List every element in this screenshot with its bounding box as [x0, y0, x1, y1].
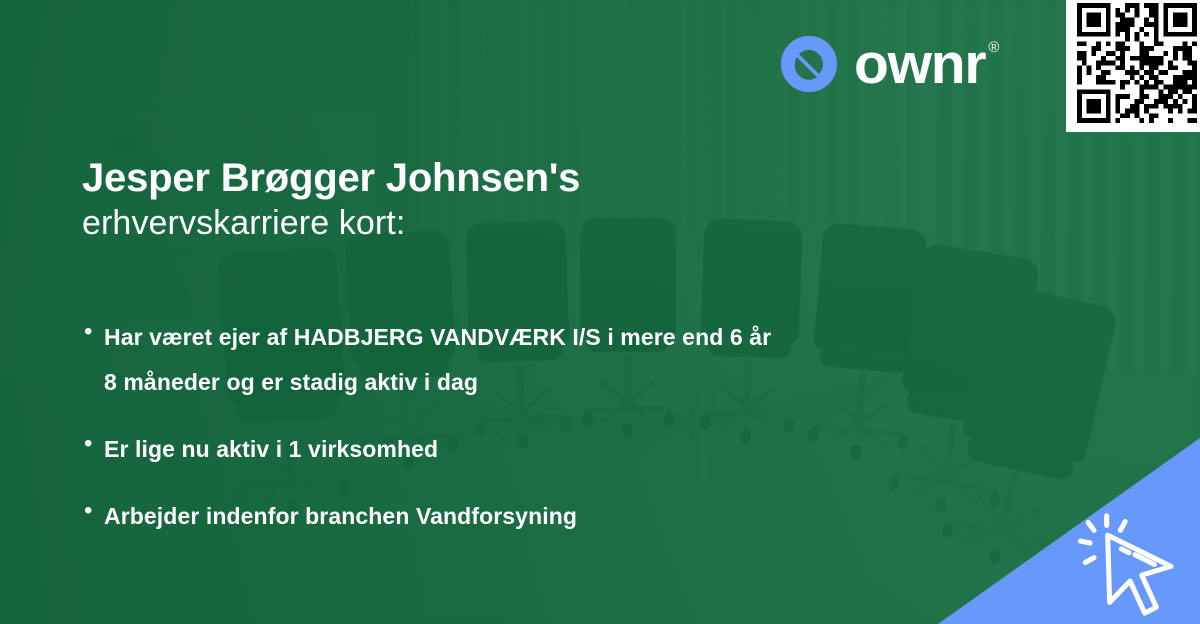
- registered-mark: ®: [988, 40, 998, 55]
- click-cursor-icon: [1074, 506, 1192, 618]
- ownr-circle-swirl-icon: [778, 33, 840, 95]
- list-item: • Er lige nu aktiv i 1 virksomhed: [84, 427, 944, 472]
- qr-code-icon: [1077, 3, 1197, 123]
- career-fact-list: • Har været ejer af HADBJERG VANDVÆRK I/…: [84, 315, 944, 539]
- list-item-line-1: Har været ejer af HADBJERG VANDVÆRK I/S …: [104, 315, 771, 360]
- ownr-logo[interactable]: ownr ®: [778, 33, 998, 95]
- ownr-wordmark: ownr ®: [854, 36, 998, 93]
- list-item-text: Har været ejer af HADBJERG VANDVÆRK I/S …: [104, 315, 771, 405]
- bullet-marker: •: [84, 494, 104, 539]
- list-item-text: Er lige nu aktiv i 1 virksomhed: [104, 427, 438, 472]
- business-career-card: ownr ® Jesper Brøgger Johnsen's erhvervs…: [0, 0, 1200, 624]
- bullet-marker: •: [84, 427, 104, 472]
- qr-code-panel[interactable]: [1066, 0, 1200, 132]
- list-item-text: Arbejder indenfor branchen Vandforsyning: [104, 494, 577, 539]
- list-item: • Har været ejer af HADBJERG VANDVÆRK I/…: [84, 315, 944, 405]
- list-item-line-2: 8 måneder og er stadig aktiv i dag: [104, 360, 771, 405]
- page-title: Jesper Brøgger Johnsen's erhvervskarrier…: [82, 155, 580, 246]
- list-item: • Arbejder indenfor branchen Vandforsyni…: [84, 494, 944, 539]
- logo-text: ownr: [854, 36, 985, 93]
- list-item-line-1: Er lige nu aktiv i 1 virksomhed: [104, 427, 438, 472]
- bullet-marker: •: [84, 315, 104, 405]
- list-item-line-1: Arbejder indenfor branchen Vandforsyning: [104, 494, 577, 539]
- blue-corner-accent: [938, 438, 1200, 624]
- title-line-2: erhvervskarriere kort:: [82, 202, 580, 246]
- title-line-1: Jesper Brøgger Johnsen's: [82, 155, 580, 202]
